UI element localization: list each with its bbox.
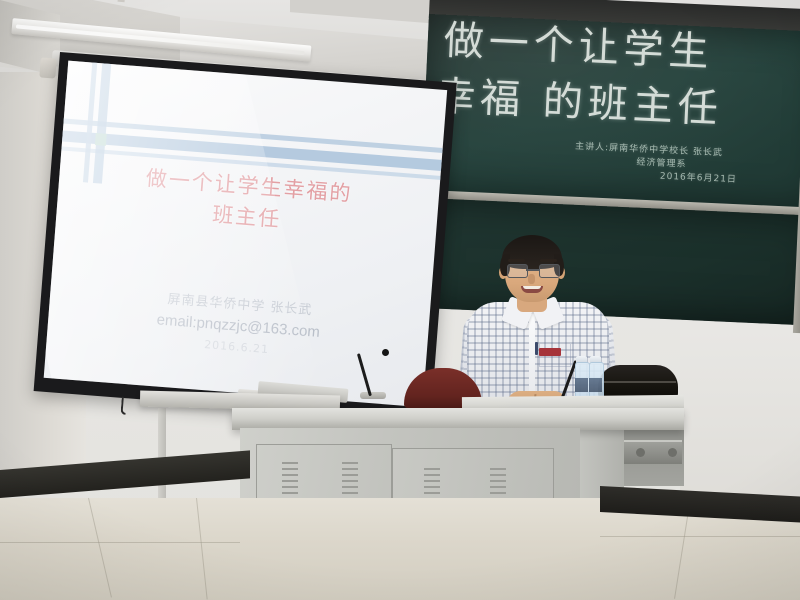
presenter-badge <box>539 348 561 356</box>
bottle-label <box>575 378 588 392</box>
bag-zipper <box>600 381 676 383</box>
presenter-nose <box>528 274 535 284</box>
equipment-knob <box>636 448 645 457</box>
tile-seam <box>88 498 112 598</box>
presenter-teeth <box>523 286 541 289</box>
presenter-eyebrow-left <box>508 259 525 262</box>
presenter-eyebrow-right <box>540 259 557 262</box>
slide-title: 做一个让学生幸福的 班主任 <box>56 156 440 247</box>
screen-roller-cap <box>39 57 56 78</box>
blackboard-headline: 做一个让学生 幸福 的班主任 <box>434 12 800 141</box>
classroom-photo-scene: 做一个让学生 幸福 的班主任 主讲人:屏南华侨中学校长 张长武 经济管理系 20… <box>0 0 800 600</box>
podium-top-surface <box>232 408 684 430</box>
glasses-icon <box>507 264 528 278</box>
projection-screen: 做一个让学生幸福的 班主任 屏南县华侨中学 张长武 email:pnqzzjc@… <box>34 52 457 422</box>
slide-accent-square <box>95 133 107 146</box>
microphone-base <box>360 392 386 399</box>
presenter-pen <box>535 342 538 355</box>
tile-seam <box>600 536 800 537</box>
bottle-label <box>589 378 602 392</box>
microphone-icon <box>382 349 389 356</box>
tile-seam <box>0 542 240 543</box>
glasses-lens-right <box>539 264 560 278</box>
equipment-knob <box>668 448 677 457</box>
glasses-bridge <box>526 269 539 271</box>
slide-subtitle-block: 屏南县华侨中学 张长武 email:pnqzzjc@163.com 2016.6… <box>46 280 430 372</box>
tile-seam <box>196 498 208 600</box>
screen-hook <box>120 397 126 415</box>
